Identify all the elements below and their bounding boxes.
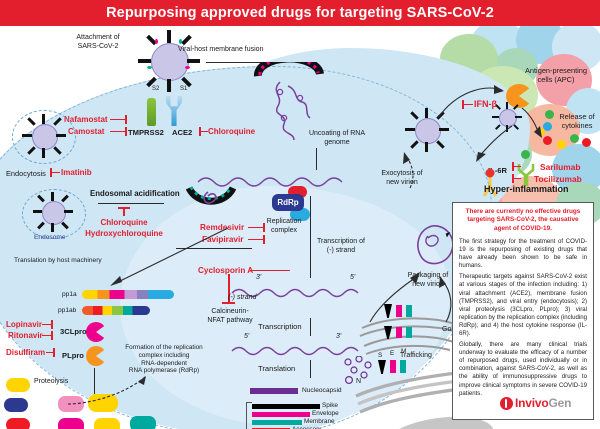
nafamostat-inhibitor-line xyxy=(110,119,126,120)
lopinavir-cap xyxy=(51,320,53,329)
legend-label-envelope: Envelope xyxy=(312,410,339,418)
cytokine-dot xyxy=(570,134,579,143)
er-structure xyxy=(352,366,468,418)
panel-paragraph-3: Globally, there are many clinical trials… xyxy=(453,338,593,398)
polyprotein-pp1a xyxy=(82,290,174,299)
legend-bar-membrane xyxy=(252,420,302,425)
chloroquine-endosome-line xyxy=(123,207,125,216)
transcription-minus-arrow xyxy=(310,196,311,278)
label-formation-rdrp: Formation of the replication complex inc… xyxy=(116,344,212,375)
nsp-blob xyxy=(58,418,84,429)
transcription-arrow xyxy=(310,318,311,336)
label-ace2: ACE2 xyxy=(172,128,192,137)
invivogen-logo: InvivoGen xyxy=(515,396,571,410)
favipiravir-cap xyxy=(263,235,265,244)
page-title: Repurposing approved drugs for targeting… xyxy=(0,0,600,26)
label-3prime-minus-left: 3' xyxy=(256,274,261,283)
golgi-spike-e2 xyxy=(396,327,402,338)
cytokine-dot xyxy=(545,110,554,119)
legend-label-nucleocapsid: Nucleocapsid xyxy=(302,387,342,395)
panel-headline: There are currently no effective drugs t… xyxy=(453,203,593,233)
label-pp1a: pp1a xyxy=(62,291,77,299)
label-pp1ab: pp1ab xyxy=(58,307,76,315)
label-trafficking: Trafficking xyxy=(400,352,432,361)
label-s1: S1 xyxy=(180,86,187,93)
label-transcription: Transcription xyxy=(258,322,302,331)
drug-imatinib: Imatinib xyxy=(61,168,92,178)
endosome-to-translation-arrow xyxy=(100,226,230,290)
label-endocytosis: Endocytosis xyxy=(6,169,46,178)
acidification-arrow xyxy=(98,203,164,204)
nsp-blob xyxy=(6,378,30,392)
drug-chloroquine-ace2: Chloroquine xyxy=(208,127,255,137)
tmprss2-receptor xyxy=(147,98,156,126)
formation-curve-arrow xyxy=(66,374,156,408)
drug-tocilizumab: Tocilizumab xyxy=(534,174,582,184)
virion-outside xyxy=(22,114,66,158)
label-tmprss2: TMPRSS2 xyxy=(128,128,164,137)
il6-cytokine xyxy=(521,150,530,159)
label-s2: S2 xyxy=(152,86,159,93)
drug-ritonavir: Ritonavir xyxy=(8,331,43,341)
tocilizumab-line xyxy=(513,178,521,179)
packaged-virion-rna xyxy=(406,222,458,270)
nsp-blob xyxy=(6,418,30,429)
uncoating-arrow xyxy=(316,148,317,170)
label-5prime-minus-right: 5' xyxy=(350,274,355,283)
label-5prime-mrna: 5' xyxy=(244,333,249,342)
label-translation-host: Translation by host machinery xyxy=(14,257,102,265)
label-proteolysis: Proteolysis xyxy=(34,378,68,387)
label-attachment: Attachment of SARS-CoV-2 xyxy=(62,34,134,51)
packaging-arrow xyxy=(366,270,426,324)
translation-arrow xyxy=(310,360,311,378)
legend-label-membrane: Membrane xyxy=(304,418,335,426)
label-endosomal-acidification: Endosomal acidification xyxy=(90,189,180,199)
legend-label-spike: Spike xyxy=(322,402,338,410)
disulfiram-cap xyxy=(53,348,55,357)
drug-lopinavir: Lopinavir xyxy=(6,320,42,330)
cytokine-release-arrow xyxy=(518,106,546,140)
label-viral-host-fusion: Viral-host membrane fusion xyxy=(178,46,263,55)
remdesivir-line xyxy=(248,227,264,228)
info-panel: There are currently no effective drugs t… xyxy=(452,202,594,420)
logo-text-gen: Gen xyxy=(548,396,571,410)
header-bar: Repurposing approved drugs for targeting… xyxy=(0,0,600,26)
legend-bar-envelope xyxy=(252,412,310,417)
legend-bar-nucleocapsid xyxy=(250,388,298,394)
panel-paragraph-2: Therapeutic targets against SARS-CoV-2 e… xyxy=(453,270,593,338)
invivogen-logo-mark xyxy=(500,397,513,410)
nsp-blob xyxy=(130,416,156,429)
cytokine-dot xyxy=(582,138,591,147)
cytokine-dot xyxy=(557,140,566,149)
rdrp-complex: RdRp xyxy=(272,194,304,211)
label-apc: Antigen-presenting cells (APC) xyxy=(520,66,592,84)
label-plpro: PLpro xyxy=(62,351,84,360)
virion-attachment xyxy=(138,30,200,92)
logo-text-invivo: Invivo xyxy=(515,396,548,410)
sarilumab-line xyxy=(513,166,521,167)
er-spike-m xyxy=(400,360,406,373)
diagram-stage: Attachment of SARS-CoV-2 S1 S2 Viral-hos… xyxy=(0,26,600,429)
golgi-spike-m2 xyxy=(406,327,412,338)
nsp-blob xyxy=(94,418,120,429)
camostat-inhibitor-cap xyxy=(125,127,127,136)
nafamostat-inhibitor-cap xyxy=(125,115,127,124)
panel-paragraph-1: The first strategy for the treatment of … xyxy=(453,233,593,270)
cyclosporin-line xyxy=(250,270,290,271)
drug-sarilumab: Sarilumab xyxy=(540,162,581,172)
nsp-blob xyxy=(4,398,28,412)
chloroquine-ace2-line xyxy=(200,131,208,132)
label-3clpro: 3CLpro xyxy=(60,327,87,336)
er-spike-e xyxy=(390,360,396,373)
infographic-page: Repurposing approved drugs for targeting… xyxy=(0,0,600,429)
camostat-inhibitor-line xyxy=(110,131,126,132)
label-minus-strand: (-) strand xyxy=(228,294,256,303)
imatinib-line xyxy=(51,172,60,173)
favipiravir-line xyxy=(248,239,264,240)
polyprotein-pp1ab xyxy=(82,306,150,315)
label-translation: Translation xyxy=(258,364,295,373)
exocytosis-arrow xyxy=(398,150,424,190)
label-uncoating: Uncoating of RNA genome xyxy=(304,130,370,147)
label-3prime-mrna: 3' xyxy=(336,333,341,342)
cytokine-to-receptor-arrow xyxy=(470,122,514,164)
drug-disulfiram: Disulfiram xyxy=(6,348,45,358)
genome-plus-strand xyxy=(196,172,346,190)
ritonavir-cap xyxy=(51,331,53,340)
virion-endosome xyxy=(33,192,73,232)
label-cytokines: Release of cytokines xyxy=(554,112,600,130)
label-endosome: Endosome xyxy=(34,234,66,242)
label-hyper-inflammation: Hyper-inflammation xyxy=(484,184,569,195)
legend-bar-spike xyxy=(252,404,320,409)
remdesivir-cap xyxy=(263,223,265,232)
label-calcineurin: Calcineurin- NFAT pathway xyxy=(202,308,258,325)
label-transcription-minus: Transcription of (-) strand xyxy=(310,238,372,255)
